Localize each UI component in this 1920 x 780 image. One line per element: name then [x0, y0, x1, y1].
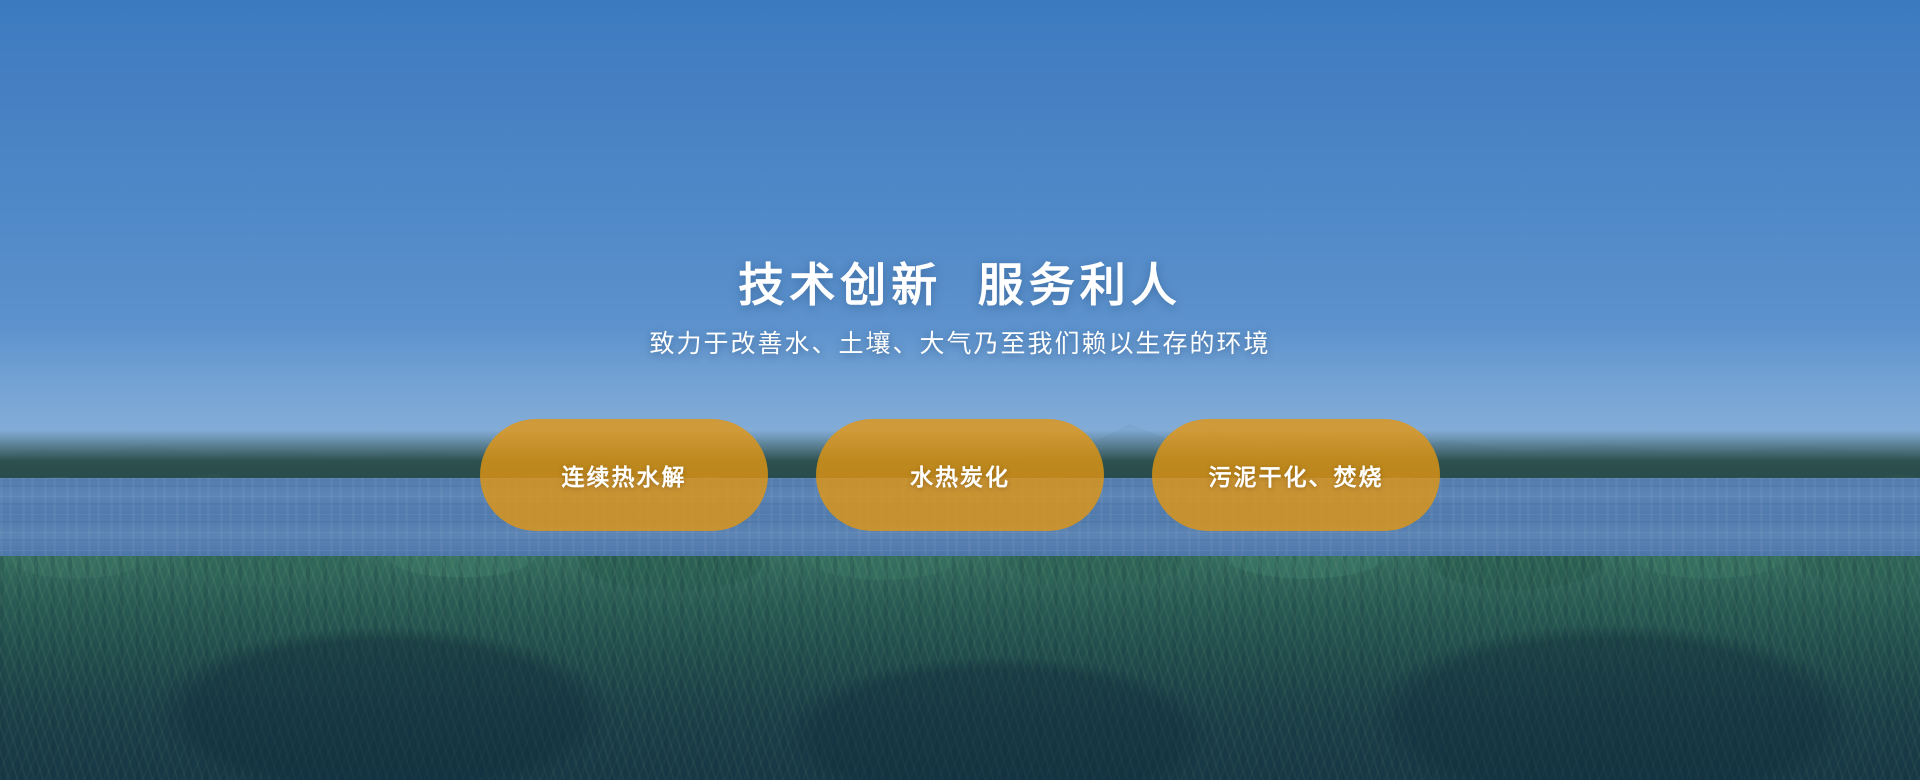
hero-content: 技术创新 服务利人 致力于改善水、土壤、大气乃至我们赖以生存的环境 连续热水解 … — [0, 0, 1920, 780]
service-pill-hydrothermal-carbonization[interactable]: 水热炭化 — [816, 419, 1104, 531]
service-pill-sludge-drying-incineration[interactable]: 污泥干化、焚烧 — [1152, 419, 1440, 531]
hero-title: 技术创新 服务利人 — [738, 262, 1182, 308]
hero-subtitle: 致力于改善水、土壤、大气乃至我们赖以生存的环境 — [649, 332, 1270, 357]
service-pill-continuous-thermal-hydrolysis[interactable]: 连续热水解 — [480, 419, 768, 531]
hero-banner: 技术创新 服务利人 致力于改善水、土壤、大气乃至我们赖以生存的环境 连续热水解 … — [0, 0, 1920, 780]
service-pill-group: 连续热水解 水热炭化 污泥干化、焚烧 — [480, 419, 1440, 531]
